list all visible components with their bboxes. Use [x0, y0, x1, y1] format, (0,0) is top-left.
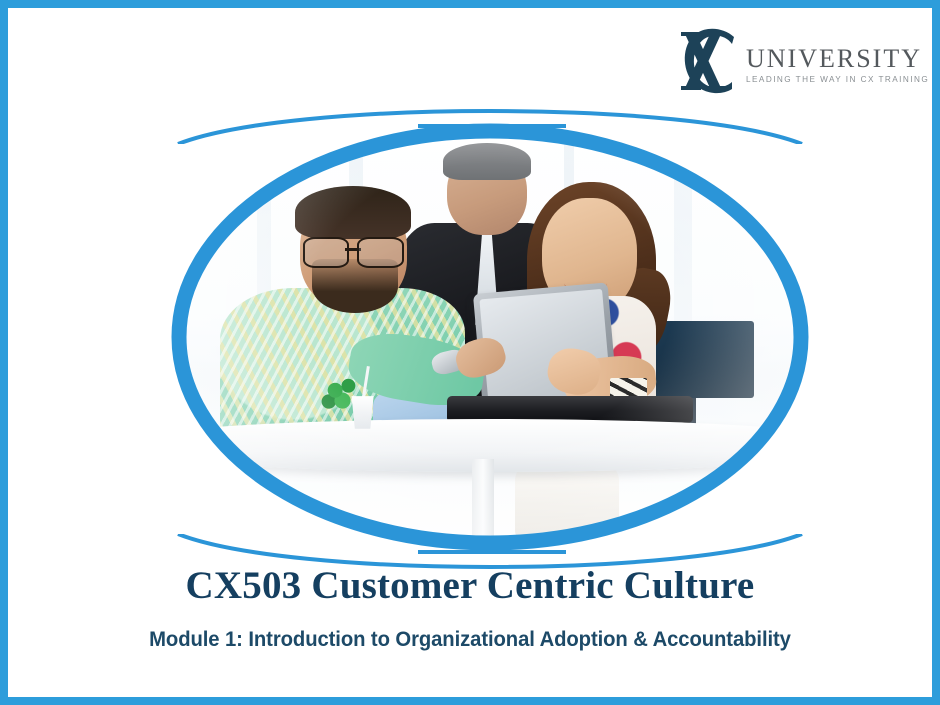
logo-tagline: LEADING THE WAY IN CX TRAINING [746, 75, 904, 84]
logo-name: UNIVERSITY [746, 46, 904, 72]
eyeglasses-icon [303, 237, 404, 264]
person-glasses-hair [295, 186, 412, 239]
person-suit-hair [443, 143, 530, 180]
cx-monogram-icon [672, 24, 750, 100]
hero-photograph [183, 133, 797, 541]
logo-wordmark: UNIVERSITY LEADING THE WAY IN CX TRAININ… [746, 46, 904, 84]
presentation-slide: UNIVERSITY LEADING THE WAY IN CX TRAININ… [0, 0, 940, 705]
hero-oval-image [170, 122, 810, 552]
person-woman-legs [515, 459, 619, 541]
page-title: CX503 Customer Centric Culture [8, 564, 932, 608]
page-subtitle: Module 1: Introduction to Organizational… [24, 628, 916, 652]
table-leg [472, 459, 494, 541]
title-block: CX503 Customer Centric Culture Module 1:… [8, 564, 932, 652]
slide-canvas: UNIVERSITY LEADING THE WAY IN CX TRAININ… [8, 8, 932, 697]
cx-university-logo[interactable]: UNIVERSITY LEADING THE WAY IN CX TRAININ… [672, 22, 902, 102]
